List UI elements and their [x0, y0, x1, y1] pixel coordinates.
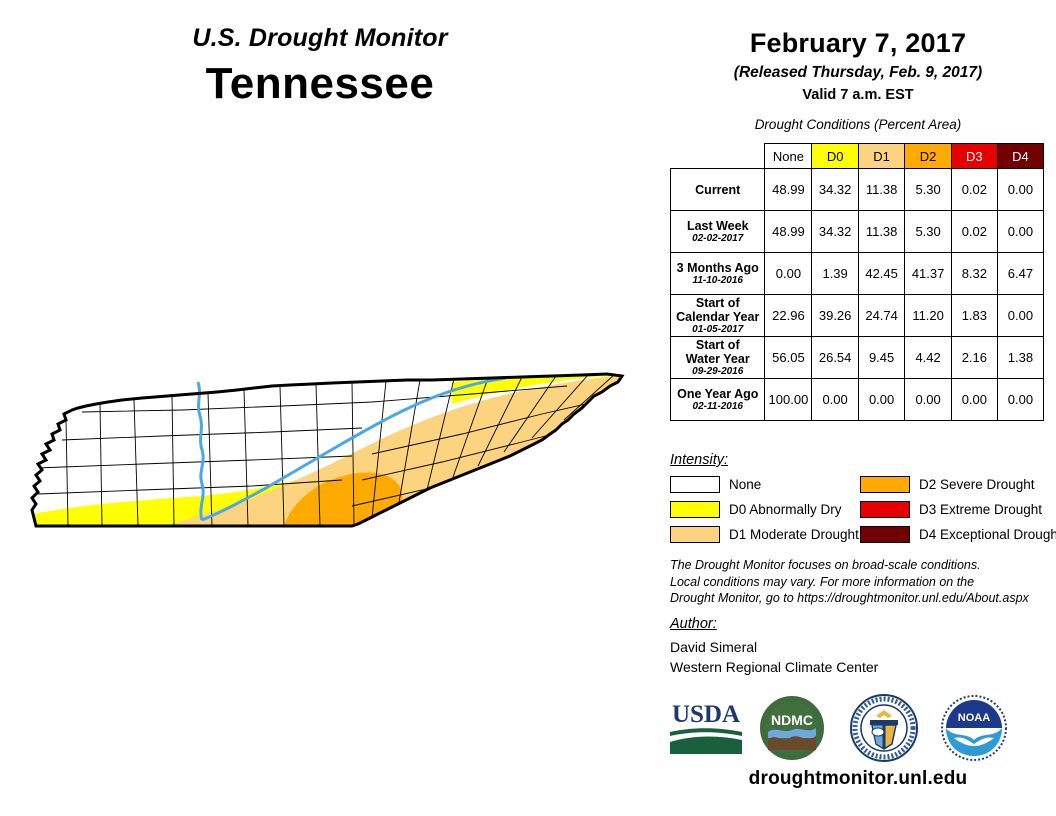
swatch-d1 [670, 526, 720, 543]
cell-d1: 0.00 [858, 379, 904, 421]
cell-d0: 0.00 [812, 379, 858, 421]
cell-d3: 8.32 [951, 253, 997, 295]
usda-logo[interactable]: USDA [668, 696, 744, 758]
valid-time: Valid 7 a.m. EST [660, 87, 1056, 103]
swatch-none [670, 476, 720, 493]
row-label-text: Start ofWater Year [671, 338, 764, 366]
legend-label-d2: D2 Severe Drought [919, 477, 1035, 492]
row-label-text: 3 Months Ago [671, 261, 764, 275]
row-label-text: One Year Ago [671, 387, 764, 401]
program-title: U.S. Drought Monitor [0, 24, 640, 53]
cell-d3: 2.16 [951, 337, 997, 379]
author-block: David Simeral Western Regional Climate C… [670, 637, 878, 678]
cell-d0: 39.26 [812, 295, 858, 337]
noaa-logo-text: NOAA [958, 712, 990, 724]
drought-conditions-table: None D0 D1 D2 D3 D4 Current48.9934.3211.… [670, 143, 1044, 421]
legend-item-d1: D1 Moderate Drought [670, 526, 860, 543]
title-block: U.S. Drought Monitor Tennessee [0, 24, 640, 109]
info-panel: February 7, 2017 (Released Thursday, Feb… [660, 0, 1056, 816]
note-line-1: The Drought Monitor focuses on broad-sca… [670, 557, 1050, 574]
cell-d3: 0.02 [951, 169, 997, 211]
legend-item-d4: D4 Exceptional Drought [860, 526, 1050, 543]
header-d4: D4 [997, 144, 1043, 169]
row-label-date: 02-02-2017 [671, 233, 764, 244]
row-label-date: 01-05-2017 [671, 324, 764, 335]
legend-item-none: None [670, 476, 860, 493]
table-row: Start ofWater Year09-29-201656.0526.549.… [671, 337, 1044, 379]
header-d3: D3 [951, 144, 997, 169]
table-header-row: None D0 D1 D2 D3 D4 [671, 144, 1044, 169]
row-label: 3 Months Ago11-10-2016 [671, 253, 765, 295]
table-caption: Drought Conditions (Percent Area) [660, 117, 1056, 132]
intensity-legend: None D2 Severe Drought D0 Abnormally Dry… [670, 472, 1050, 547]
row-label-date: 02-11-2016 [671, 401, 764, 412]
swatch-d2 [860, 476, 910, 493]
row-label: Start ofWater Year09-29-2016 [671, 337, 765, 379]
disclaimer-note: The Drought Monitor focuses on broad-sca… [670, 557, 1050, 607]
note-line-2: Local conditions may vary. For more info… [670, 574, 1050, 591]
header-none: None [765, 144, 812, 169]
table-body: Current48.9934.3211.385.300.020.00Last W… [671, 169, 1044, 421]
cell-d0: 34.32 [812, 211, 858, 253]
state-title: Tennessee [0, 59, 640, 109]
cell-d1: 11.38 [858, 211, 904, 253]
legend-label-none: None [729, 477, 761, 492]
cell-d2: 41.37 [905, 253, 951, 295]
ndmc-logo[interactable]: NDMC [756, 692, 828, 764]
cell-d1: 42.45 [858, 253, 904, 295]
cell-d3: 0.00 [951, 379, 997, 421]
legend-label-d0: D0 Abnormally Dry [729, 502, 842, 517]
cell-d4: 6.47 [997, 253, 1043, 295]
legend-item-d3: D3 Extreme Drought [860, 501, 1050, 518]
cell-none: 56.05 [765, 337, 812, 379]
legend-label-d3: D3 Extreme Drought [919, 502, 1042, 517]
header-blank [671, 144, 765, 169]
ndmc-logo-text: NDMC [771, 712, 813, 728]
row-label: One Year Ago02-11-2016 [671, 379, 765, 421]
cell-d0: 26.54 [812, 337, 858, 379]
header-d2: D2 [905, 144, 951, 169]
legend-row: None D2 Severe Drought [670, 472, 1050, 497]
row-label-date: 11-10-2016 [671, 275, 764, 286]
cell-none: 48.99 [765, 211, 812, 253]
swatch-d0 [670, 501, 720, 518]
usda-logo-text: USDA [672, 701, 740, 728]
legend-row: D1 Moderate Drought D4 Exceptional Droug… [670, 522, 1050, 547]
row-label: Current [671, 169, 765, 211]
table-row: Start ofCalendar Year01-05-201722.9639.2… [671, 295, 1044, 337]
cell-d4: 0.00 [997, 169, 1043, 211]
date-block: February 7, 2017 (Released Thursday, Feb… [660, 0, 1056, 132]
tennessee-drought-map[interactable] [22, 368, 642, 548]
cell-d4: 0.00 [997, 379, 1043, 421]
map-drought-regions [22, 368, 642, 548]
table-row: Last Week02-02-201748.9934.3211.385.300.… [671, 211, 1044, 253]
author-heading: Author: [670, 616, 717, 632]
note-line-3: Drought Monitor, go to https://droughtmo… [670, 590, 1050, 607]
cell-d2: 11.20 [905, 295, 951, 337]
row-label-text: Last Week [671, 219, 764, 233]
cell-d4: 1.38 [997, 337, 1043, 379]
table-row: One Year Ago02-11-2016100.000.000.000.00… [671, 379, 1044, 421]
cell-none: 48.99 [765, 169, 812, 211]
release-date: (Released Thursday, Feb. 9, 2017) [660, 64, 1056, 82]
cell-d0: 1.39 [812, 253, 858, 295]
cell-d1: 11.38 [858, 169, 904, 211]
cell-d1: 24.74 [858, 295, 904, 337]
row-label: Last Week02-02-2017 [671, 211, 765, 253]
swatch-d4 [860, 526, 910, 543]
table-row: Current48.9934.3211.385.300.020.00 [671, 169, 1044, 211]
intensity-heading: Intensity: [670, 452, 728, 468]
cell-d0: 34.32 [812, 169, 858, 211]
usdc-seal[interactable] [848, 692, 920, 764]
row-label-date: 09-29-2016 [671, 366, 764, 377]
legend-label-d4: D4 Exceptional Drought [919, 527, 1056, 542]
cell-d2: 5.30 [905, 211, 951, 253]
map-panel: U.S. Drought Monitor Tennessee [0, 0, 660, 816]
cell-d4: 0.00 [997, 295, 1043, 337]
agency-logos: USDA NDMC NOAA [660, 690, 1056, 770]
cell-d3: 1.83 [951, 295, 997, 337]
legend-item-d0: D0 Abnormally Dry [670, 501, 860, 518]
author-name: David Simeral [670, 637, 878, 657]
row-label: Start ofCalendar Year01-05-2017 [671, 295, 765, 337]
author-affiliation: Western Regional Climate Center [670, 657, 878, 677]
cell-d3: 0.02 [951, 211, 997, 253]
valid-date: February 7, 2017 [660, 28, 1056, 59]
row-label-text: Current [671, 183, 764, 197]
table-row: 3 Months Ago11-10-20160.001.3942.4541.37… [671, 253, 1044, 295]
cell-d1: 9.45 [858, 337, 904, 379]
cell-d2: 0.00 [905, 379, 951, 421]
header-d0: D0 [812, 144, 858, 169]
legend-row: D0 Abnormally Dry D3 Extreme Drought [670, 497, 1050, 522]
noaa-logo[interactable]: NOAA [938, 692, 1010, 764]
footer-url[interactable]: droughtmonitor.unl.edu [660, 768, 1056, 790]
header-d1: D1 [858, 144, 904, 169]
cell-none: 22.96 [765, 295, 812, 337]
cell-d2: 5.30 [905, 169, 951, 211]
legend-label-d1: D1 Moderate Drought [729, 527, 859, 542]
cell-d2: 4.42 [905, 337, 951, 379]
swatch-d3 [860, 501, 910, 518]
legend-item-d2: D2 Severe Drought [860, 476, 1050, 493]
cell-d4: 0.00 [997, 211, 1043, 253]
cell-none: 100.00 [765, 379, 812, 421]
cell-none: 0.00 [765, 253, 812, 295]
row-label-text: Start ofCalendar Year [671, 296, 764, 324]
